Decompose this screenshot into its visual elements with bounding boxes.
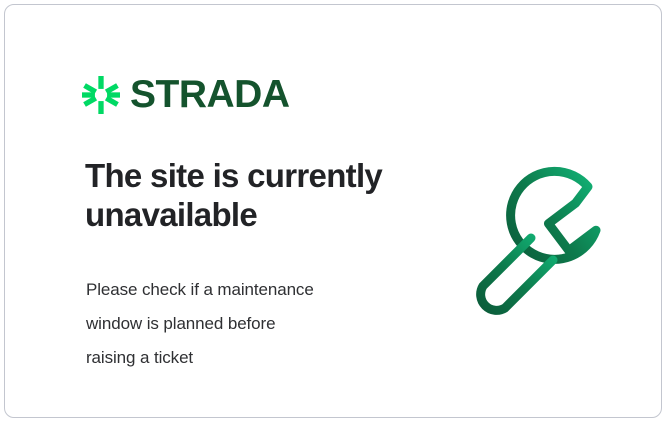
page-title: The site is currently unavailable xyxy=(85,157,445,234)
description-line: window is planned before xyxy=(86,307,416,341)
strada-asterisk-icon xyxy=(82,76,120,114)
status-card: STRADA The site is currently unavailable… xyxy=(4,4,662,418)
page-description: Please check if a maintenance window is … xyxy=(86,273,416,375)
description-line: Please check if a maintenance xyxy=(86,273,416,307)
description-line: raising a ticket xyxy=(86,341,416,375)
error-page: STRADA The site is currently unavailable… xyxy=(0,0,666,436)
brand-wordmark: STRADA xyxy=(130,75,290,114)
wrench-icon xyxy=(457,160,617,320)
brand-logo: STRADA xyxy=(82,75,290,114)
